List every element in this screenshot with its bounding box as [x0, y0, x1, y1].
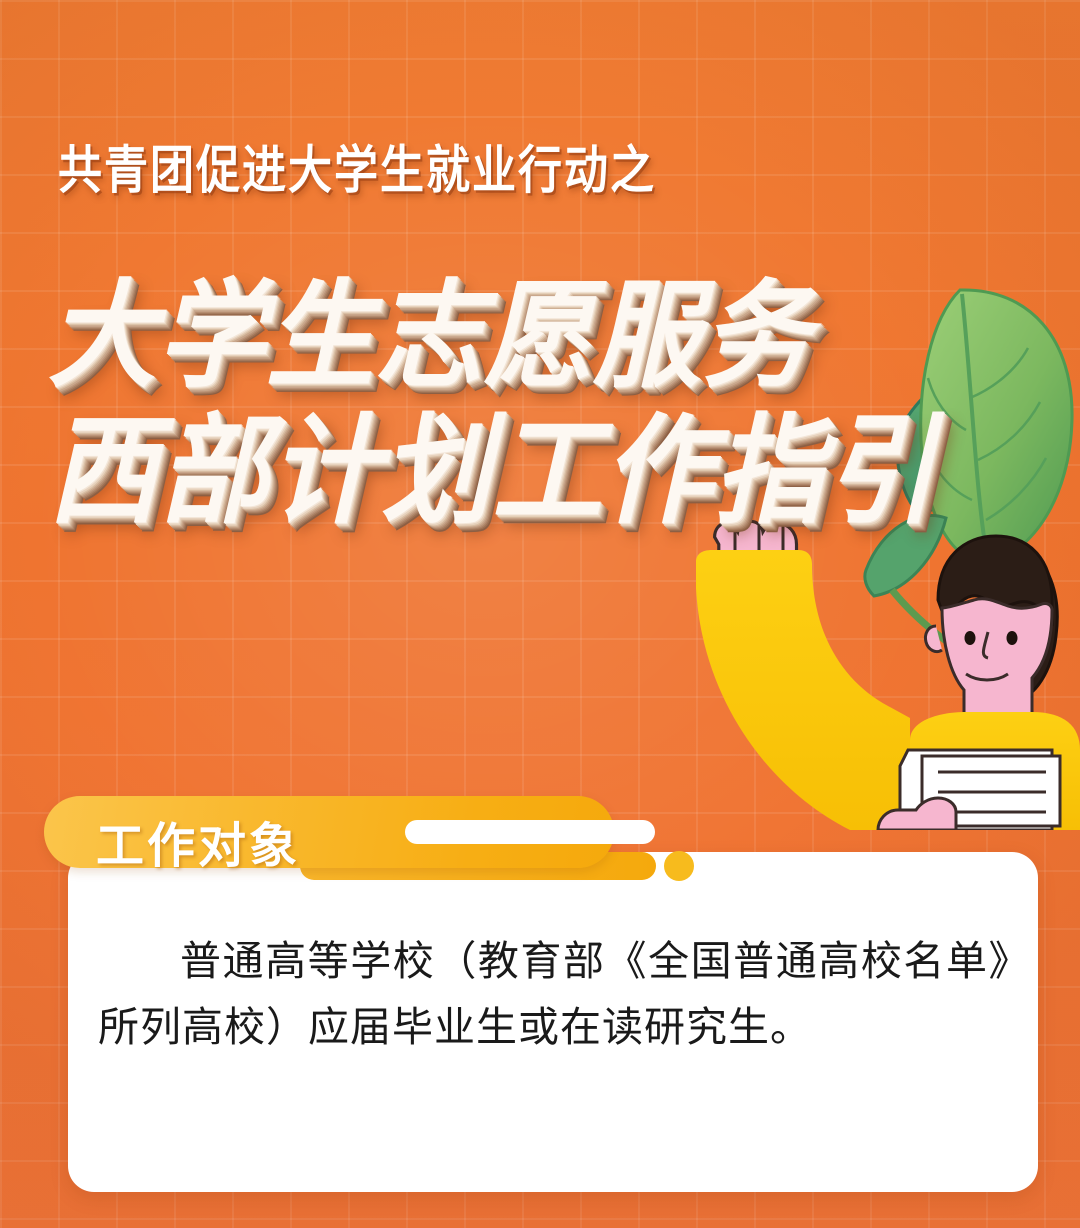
head-shape: [925, 536, 1052, 722]
poster-root: 共青团促进大学生就业行动之 大学生志愿服务 西部计划工作指引 工作对象 普通高等…: [0, 0, 1080, 1228]
section-badge-label: 工作对象: [96, 806, 300, 876]
card-body-text: 普通高等学校（教育部《全国普通高校名单》所列高校）应届毕业生或在读研究生。: [98, 928, 1010, 1060]
poster-title: 大学生志愿服务 西部计划工作指引: [48, 268, 1048, 530]
badge-dot-icon: [664, 851, 694, 881]
poster-title-line-2: 西部计划工作指引: [48, 402, 1048, 540]
poster-subtitle: 共青团促进大学生就业行动之: [58, 128, 656, 204]
poster-title-line-1: 大学生志愿服务: [48, 268, 1048, 406]
badge-white-bar: [405, 820, 655, 844]
